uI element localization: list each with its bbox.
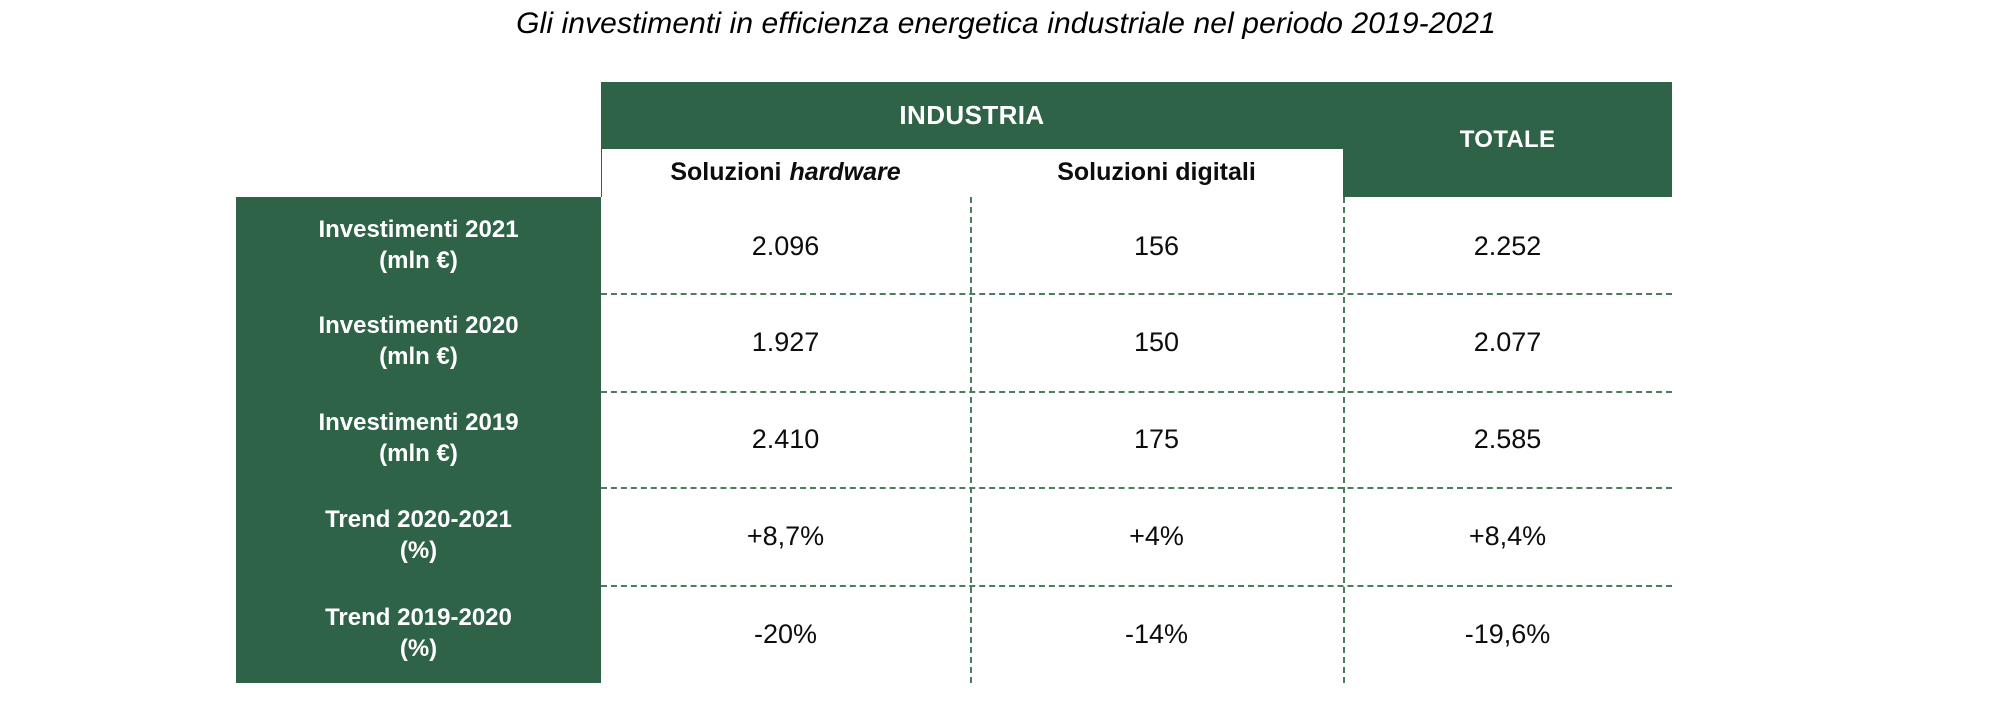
table-cell-2019-digitali: 175 xyxy=(970,391,1343,487)
table-cell-trend-2019-2020-digitali: -14% xyxy=(970,585,1343,683)
column-header-hardware-prefix: Soluzioni xyxy=(670,158,781,187)
table-cell-2019-totale: 2.585 xyxy=(1343,391,1672,487)
table-cell-trend-2019-2020-totale: -19,6% xyxy=(1343,585,1672,683)
column-separator-hardware-digitali xyxy=(970,197,972,683)
row-label-line1: Investimenti 2020 xyxy=(318,311,518,342)
table-cell-2021-hardware: 2.096 xyxy=(601,197,970,295)
row-label-trend-2019-2020: Trend 2019-2020 (%) xyxy=(236,585,601,683)
row-label-line2: (%) xyxy=(400,536,437,567)
page-title: Gli investimenti in efficienza energetic… xyxy=(0,0,2012,48)
row-label-line2: (%) xyxy=(400,634,437,665)
row-label-investimenti-2019: Investimenti 2019 (mln €) xyxy=(236,391,601,487)
slide-canvas: Gli investimenti in efficienza energetic… xyxy=(0,0,2012,724)
table-cell-2021-digitali: 156 xyxy=(970,197,1343,295)
table-cell-trend-2019-2020-hardware: -20% xyxy=(601,585,970,683)
row-label-line1: Trend 2020-2021 xyxy=(325,505,512,536)
row-label-line1: Trend 2019-2020 xyxy=(325,603,512,634)
row-label-line1: Investimenti 2021 xyxy=(318,215,518,246)
table-cell-2019-hardware: 2.410 xyxy=(601,391,970,487)
table-cell-trend-2020-2021-digitali: +4% xyxy=(970,487,1343,585)
table-cell-2020-digitali: 150 xyxy=(970,293,1343,391)
row-label-investimenti-2020: Investimenti 2020 (mln €) xyxy=(236,293,601,391)
row-label-trend-2020-2021: Trend 2020-2021 (%) xyxy=(236,487,601,585)
table-cell-2021-totale: 2.252 xyxy=(1343,197,1672,295)
row-label-line2: (mln €) xyxy=(379,246,458,277)
column-group-industria: INDUSTRIA xyxy=(601,82,1343,148)
row-label-line1: Investimenti 2019 xyxy=(318,408,518,439)
investments-table: INDUSTRIA TOTALE Soluzioni hardware Solu… xyxy=(236,82,1672,683)
table-cell-2020-totale: 2.077 xyxy=(1343,293,1672,391)
table-cell-trend-2020-2021-totale: +8,4% xyxy=(1343,487,1672,585)
row-label-line2: (mln €) xyxy=(379,439,458,470)
table-cell-2020-hardware: 1.927 xyxy=(601,293,970,391)
table-cell-trend-2020-2021-hardware: +8,7% xyxy=(601,487,970,585)
column-group-totale: TOTALE xyxy=(1343,82,1672,197)
column-header-hardware-emphasis: hardware xyxy=(781,158,900,187)
column-header-soluzioni-digitali: Soluzioni digitali xyxy=(970,148,1343,197)
row-label-line2: (mln €) xyxy=(379,342,458,373)
column-header-soluzioni-hardware: Soluzioni hardware xyxy=(601,148,970,197)
column-separator-digitali-totale xyxy=(1343,197,1345,683)
row-label-investimenti-2021: Investimenti 2021 (mln €) xyxy=(236,197,601,295)
